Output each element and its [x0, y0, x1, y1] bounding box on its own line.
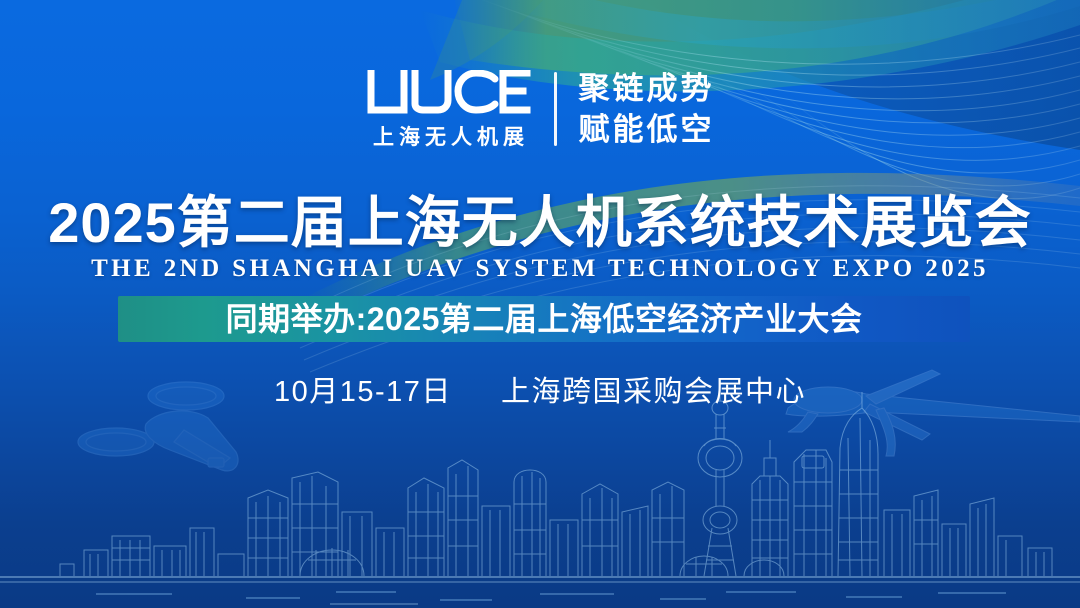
tagline-line-2: 赋能低空	[579, 113, 715, 146]
logo-chinese-name: 上海无人机展	[368, 127, 529, 148]
event-date: 10月15-17日	[274, 376, 452, 408]
uuce-wordmark-icon	[366, 70, 532, 120]
tagline-line-1: 聚链成势	[579, 72, 715, 105]
page-title-english: THE 2ND SHANGHAI UAV SYSTEM TECHNOLOGY E…	[0, 256, 1080, 281]
brand-tagline: 聚链成势 赋能低空	[579, 72, 715, 146]
page-title-chinese: 2025第二届上海无人机系统技术展览会	[0, 195, 1080, 251]
logo-divider	[554, 72, 557, 146]
logo-row: 上海无人机展 聚链成势 赋能低空	[0, 70, 1080, 148]
event-banner: 上海无人机展 聚链成势 赋能低空 2025第二届上海无人机系统技术展览会 THE…	[0, 0, 1080, 608]
concurrent-event-band: 同期举办:2025第二届上海低空经济产业大会	[118, 296, 970, 342]
concurrent-event-text: 同期举办:2025第二届上海低空经济产业大会	[226, 303, 863, 335]
event-venue: 上海跨国采购会展中心	[501, 376, 806, 408]
shanghai-skyline-lineart	[0, 378, 1080, 608]
date-venue-line: 10月15-17日 上海跨国采购会展中心	[0, 378, 1080, 407]
brand-logo: 上海无人机展	[366, 70, 532, 148]
